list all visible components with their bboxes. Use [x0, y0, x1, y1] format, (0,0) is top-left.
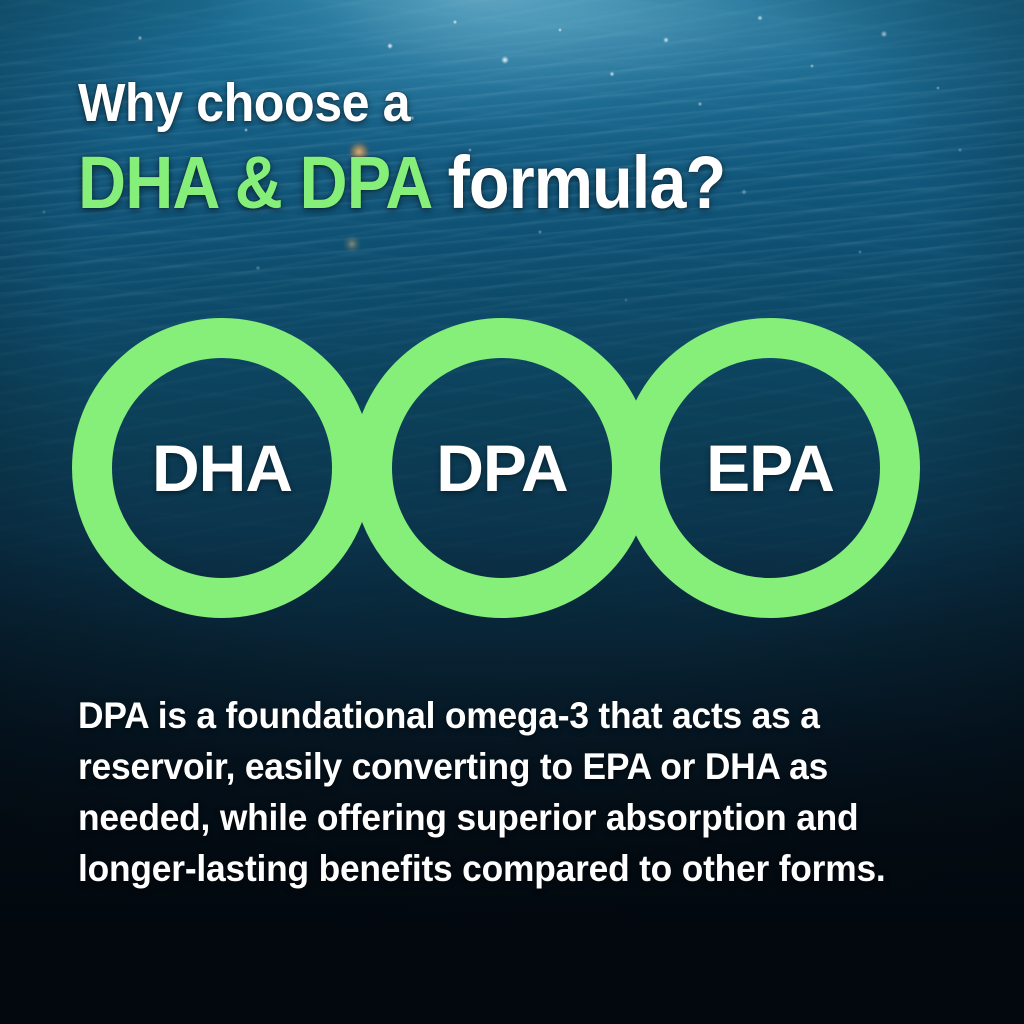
- omega-ring-diagram: DHA DPA EPA: [0, 300, 1024, 640]
- ring-epa-circle: [620, 318, 920, 618]
- headline-line-2: DHA & DPA formula?: [78, 146, 888, 220]
- headline-line-1: Why choose a: [78, 76, 915, 130]
- headline-rest-text: formula?: [430, 141, 725, 224]
- infographic-canvas: Why choose a DHA & DPA formula? DHA DPA …: [0, 0, 1024, 1024]
- ring-dha-circle: [72, 318, 372, 618]
- headline-block: Why choose a DHA & DPA formula?: [78, 76, 978, 220]
- body-paragraph: DPA is a foundational omega-3 that acts …: [78, 690, 909, 894]
- headline-accent-text: DHA & DPA: [78, 141, 430, 224]
- ring-dpa-circle: [352, 318, 652, 618]
